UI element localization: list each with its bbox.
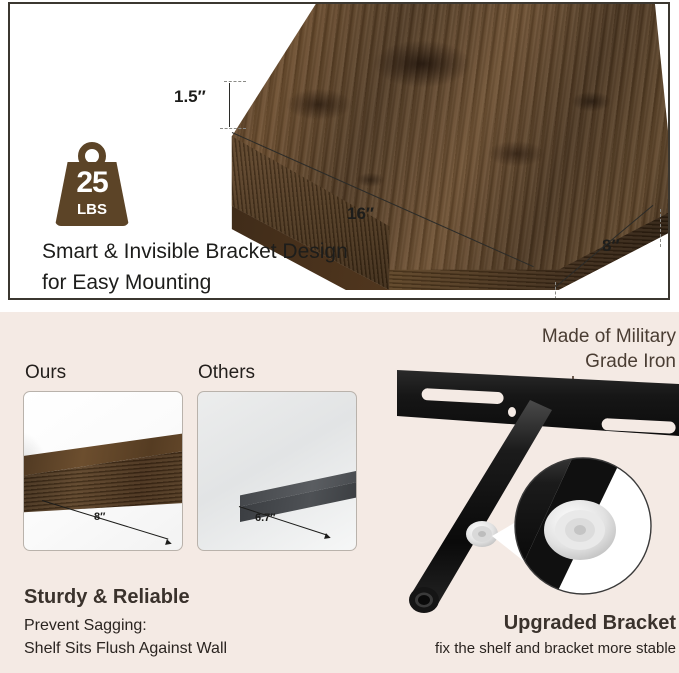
compare-box-others: 6.7″ bbox=[197, 391, 357, 551]
dimension-length-label: 16″ bbox=[347, 204, 374, 224]
bracket-illustration bbox=[380, 358, 679, 620]
sturdy-subtitle-line2: Shelf Sits Flush Against Wall bbox=[24, 637, 227, 660]
top-headline-line1: Smart & Invisible Bracket Design bbox=[42, 236, 562, 267]
compare-label-others: Others bbox=[198, 362, 255, 384]
weight-value: 25 bbox=[52, 168, 132, 198]
compare-label-ours: Ours bbox=[25, 362, 66, 384]
others-dimension-label: 6.7″ bbox=[255, 512, 276, 524]
sturdy-subtitle: Prevent Sagging: Shelf Sits Flush Agains… bbox=[24, 614, 227, 660]
upgraded-bracket-subtitle: fix the shelf and bracket more stable bbox=[330, 640, 676, 657]
depth-guide-right bbox=[660, 209, 661, 247]
military-callout-line1: Made of Military bbox=[420, 324, 676, 349]
thickness-guide-bottom bbox=[220, 128, 246, 129]
others-dimension-arrow bbox=[324, 533, 332, 541]
upgraded-bracket-title: Upgraded Bracket bbox=[360, 612, 676, 635]
ours-dimension-label: 8″ bbox=[94, 511, 105, 523]
thickness-tick bbox=[229, 83, 230, 127]
top-panel: 1.5″ 16″ 8″ 25 LBS Smart & Invisible Bra… bbox=[8, 2, 670, 300]
dimension-thickness-label: 1.5″ bbox=[174, 87, 206, 107]
top-headline: Smart & Invisible Bracket Design for Eas… bbox=[42, 236, 562, 298]
bracket-screw-small bbox=[466, 521, 498, 547]
ours-dimension-arrow bbox=[165, 539, 172, 546]
weight-unit: LBS bbox=[52, 202, 132, 217]
top-headline-line2: for Easy Mounting bbox=[42, 267, 562, 298]
sturdy-subtitle-line1: Prevent Sagging: bbox=[24, 614, 227, 637]
infographic-root: 1.5″ 16″ 8″ 25 LBS Smart & Invisible Bra… bbox=[0, 0, 679, 673]
thickness-guide-top bbox=[224, 81, 246, 82]
compare-box-ours: 8″ bbox=[23, 391, 183, 551]
sturdy-title: Sturdy & Reliable bbox=[24, 586, 190, 609]
weight-capacity-badge: 25 LBS bbox=[52, 142, 132, 230]
